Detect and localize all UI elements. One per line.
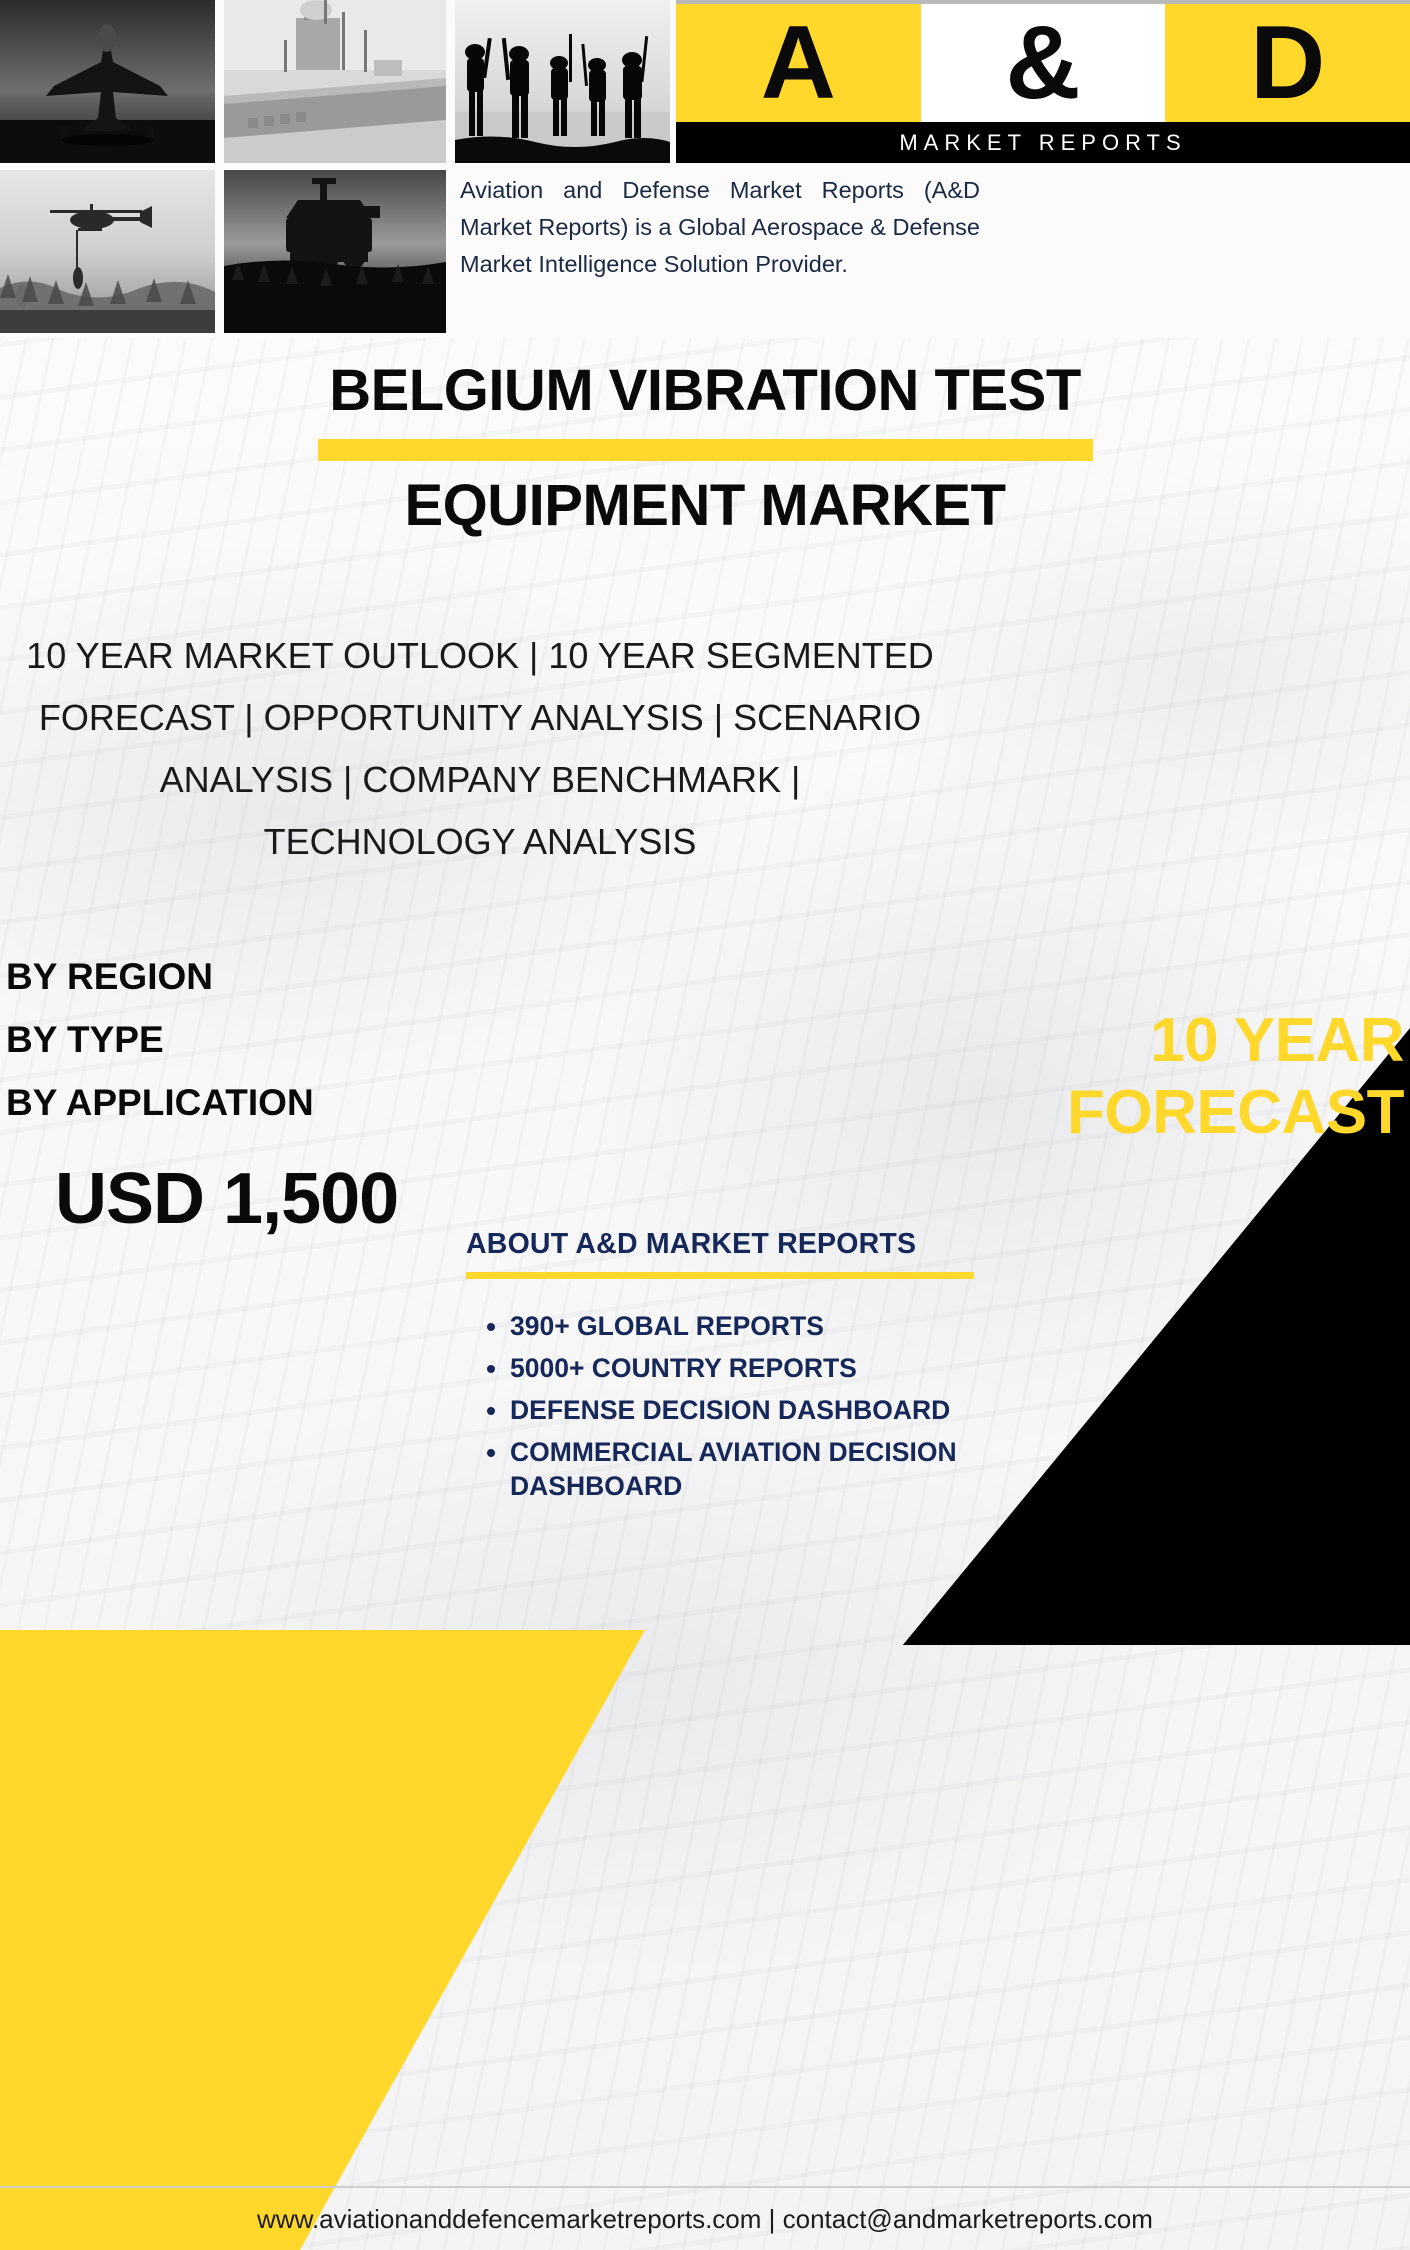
- about-underline-bar: [466, 1272, 974, 1279]
- segment-by-type: BY TYPE: [6, 1008, 314, 1071]
- company-intro-text: Aviation and Defense Market Reports (A&D…: [460, 172, 980, 283]
- feature-line-1: 10 YEAR MARKET OUTLOOK | 10 YEAR SEGMENT…: [0, 625, 960, 687]
- armored-vehicle-photo: [224, 170, 446, 333]
- segmentation-list: BY REGION BY TYPE BY APPLICATION: [6, 945, 314, 1134]
- about-bullet-1: 5000+ COUNTRY REPORTS: [510, 1351, 986, 1385]
- helicopter-photo: [0, 170, 215, 333]
- report-title-line-2: EQUIPMENT MARKET: [0, 475, 1410, 538]
- about-bullet-0: 390+ GLOBAL REPORTS: [510, 1309, 986, 1343]
- forecast-badge: 10 YEAR FORECAST: [750, 1005, 1410, 1149]
- about-bullet-list: 390+ GLOBAL REPORTS 5000+ COUNTRY REPORT…: [466, 1309, 986, 1503]
- aircraft-carrier-photo: [224, 0, 446, 163]
- report-title: BELGIUM VIBRATION TEST EQUIPMENT MARKET: [0, 360, 1410, 537]
- logo-cell-ampersand: &: [921, 4, 1166, 122]
- logo-letter-d: D: [1250, 11, 1325, 115]
- price-label: USD 1,500: [55, 1158, 398, 1240]
- logo-ampersand: &: [1005, 11, 1080, 115]
- feature-line-2: FORECAST | OPPORTUNITY ANALYSIS | SCENAR…: [0, 687, 960, 749]
- title-underline-bar: [318, 439, 1093, 461]
- report-features: 10 YEAR MARKET OUTLOOK | 10 YEAR SEGMENT…: [0, 625, 960, 873]
- soldiers-silhouette-photo: [455, 0, 670, 163]
- logo-cell-d: D: [1165, 4, 1410, 122]
- about-bullet-3: COMMERCIAL AVIATION DECISION DASHBOARD: [510, 1435, 986, 1503]
- footer-contact: www.aviationanddefencemarketreports.com …: [0, 2188, 1410, 2250]
- about-panel: ABOUT A&D MARKET REPORTS 390+ GLOBAL REP…: [466, 1228, 986, 1511]
- report-title-line-1: BELGIUM VIBRATION TEST: [0, 360, 1410, 423]
- feature-line-3: ANALYSIS | COMPANY BENCHMARK |: [0, 749, 960, 811]
- logo-letters: A & D: [676, 4, 1410, 122]
- forecast-line-2: FORECAST: [750, 1077, 1404, 1149]
- logo-cell-a: A: [676, 4, 921, 122]
- logo-tagline-bar: MARKET REPORTS: [676, 122, 1410, 163]
- segment-by-region: BY REGION: [6, 945, 314, 1008]
- fighter-jet-photo: [0, 0, 215, 163]
- header-photo-strip: A & D MARKET REPORTS Aviation and Defens…: [0, 0, 1410, 338]
- about-title: ABOUT A&D MARKET REPORTS: [466, 1228, 986, 1261]
- feature-line-4: TECHNOLOGY ANALYSIS: [0, 811, 960, 873]
- about-bullet-2: DEFENSE DECISION DASHBOARD: [510, 1393, 986, 1427]
- segment-by-application: BY APPLICATION: [6, 1071, 314, 1134]
- logo-letter-a: A: [761, 11, 836, 115]
- forecast-line-1: 10 YEAR: [750, 1005, 1404, 1077]
- logo-tagline: MARKET REPORTS: [899, 130, 1186, 156]
- company-logo: A & D MARKET REPORTS: [676, 0, 1410, 163]
